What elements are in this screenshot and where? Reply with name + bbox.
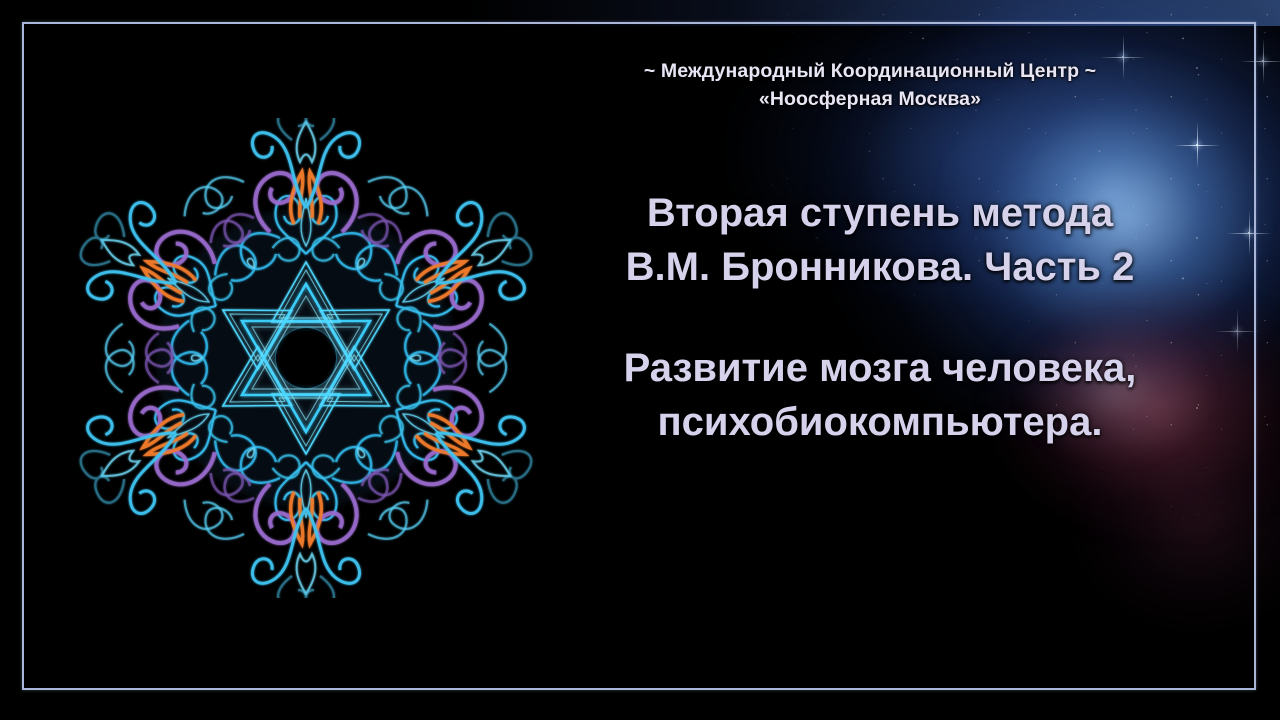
slide-title-block: Вторая ступень метода В.М. Бронникова. Ч…	[520, 186, 1240, 450]
presentation-slide: ~ Международный Координационный Центр ~ …	[0, 0, 1280, 720]
fractal-mandala	[66, 118, 546, 598]
title-spacer	[520, 295, 1240, 341]
title-line-1: Вторая ступень метода	[520, 186, 1240, 240]
organization-header-line-2: «Ноосферная Москва»	[520, 86, 1220, 114]
text-column: ~ Международный Координационный Центр ~ …	[520, 0, 1260, 720]
subtitle-line-1: Развитие мозга человека,	[520, 341, 1240, 395]
organization-header: ~ Международный Координационный Центр ~ …	[520, 58, 1220, 113]
title-line-2: В.М. Бронникова. Часть 2	[520, 240, 1240, 294]
fractal-mandala-svg	[66, 118, 546, 598]
sparkle-star	[1262, 60, 1264, 62]
organization-header-line-1: ~ Международный Координационный Центр ~	[520, 58, 1220, 86]
subtitle-line-2: психобиокомпьютера.	[520, 395, 1240, 449]
